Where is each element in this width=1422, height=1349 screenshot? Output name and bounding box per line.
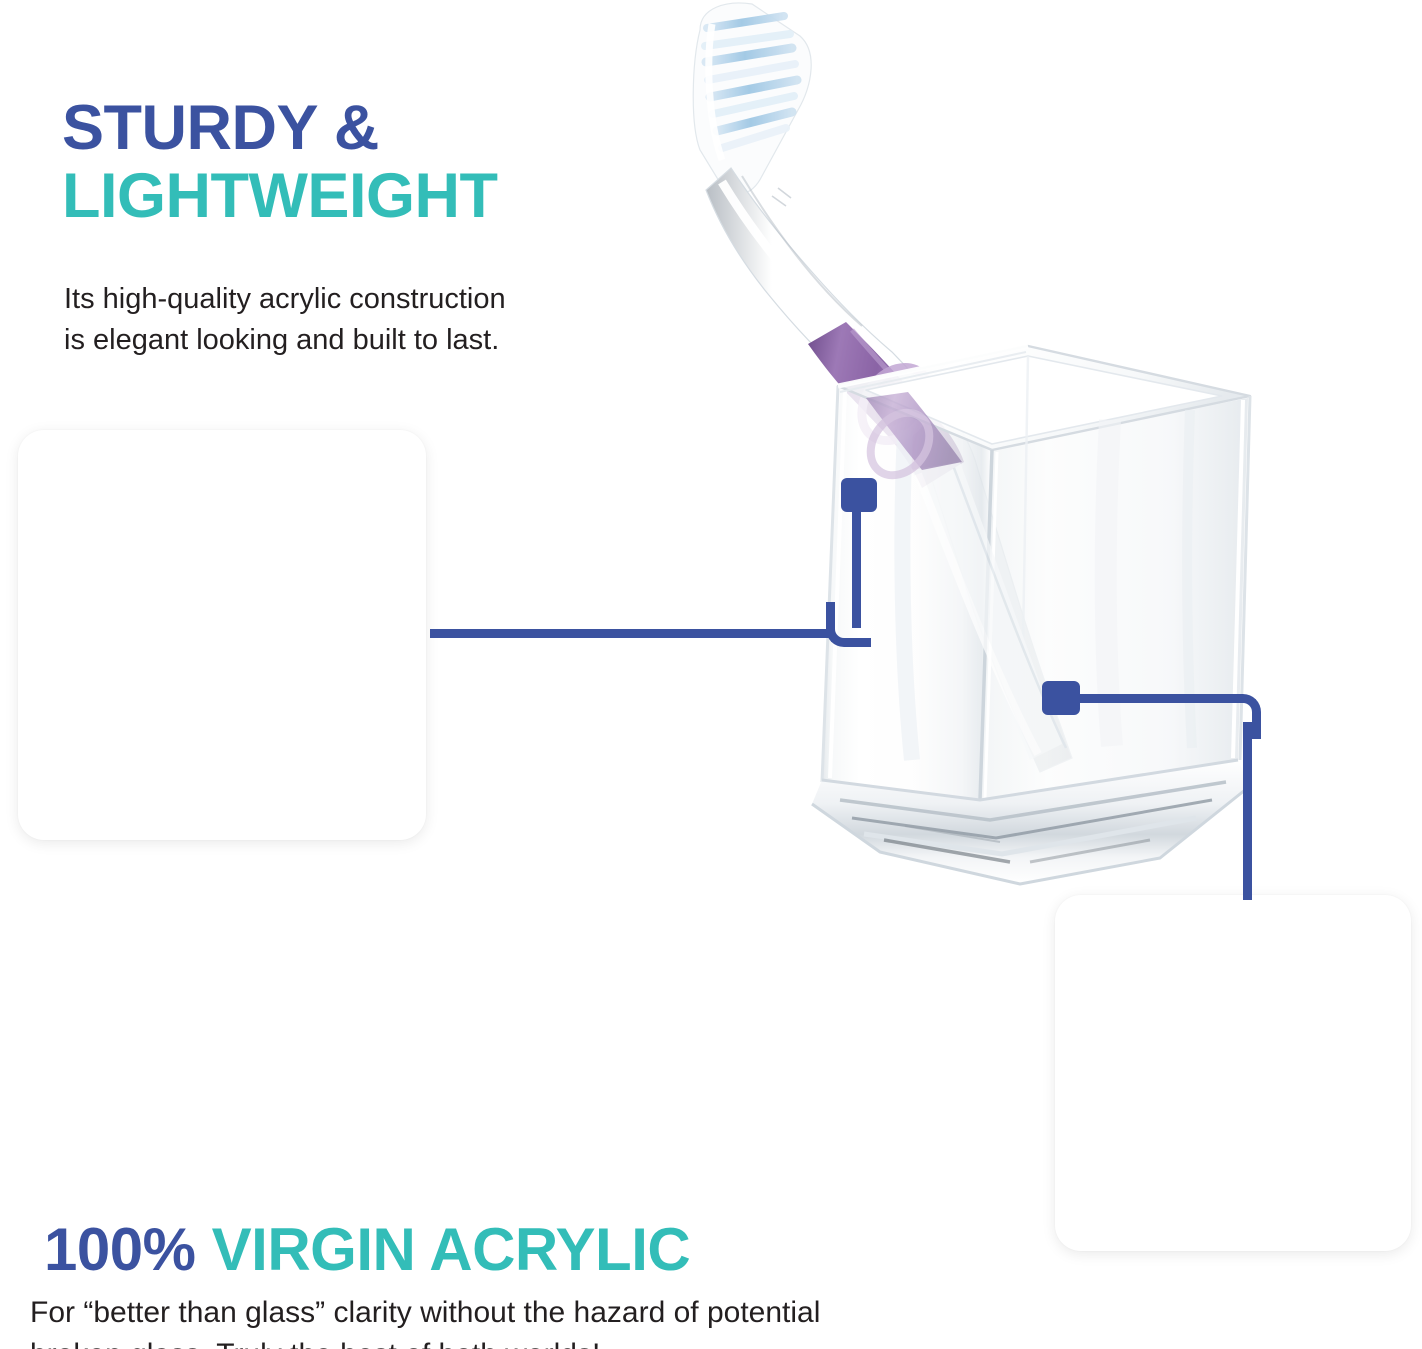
connector-base-vertical <box>1243 722 1252 900</box>
top-headline-line1: STURDY & <box>62 94 702 162</box>
toothbrush-grip-through-glass <box>859 392 962 487</box>
connector-rim-elbow <box>826 602 871 647</box>
toothbrush-handle <box>706 168 1072 772</box>
toothbrush-head <box>693 3 811 194</box>
bottom-headline: 100% VIRGIN ACRYLIC <box>44 1218 1044 1281</box>
top-body-line1: Its high-quality acrylic construction <box>64 279 674 320</box>
infographic-page: STURDY & LIGHTWEIGHT Its high-quality ac… <box>0 0 1422 1349</box>
bottom-body-line1: For “better than glass” clarity without … <box>30 1292 1060 1334</box>
bottom-headline-prefix: 100% <box>44 1216 195 1283</box>
top-body-line2: is elegant looking and built to last. <box>64 320 674 361</box>
top-body-text: Its high-quality acrylic construction is… <box>64 279 674 361</box>
acrylic-tumbler <box>812 346 1250 884</box>
callout-card-base-detail[interactable] <box>1055 895 1411 1251</box>
bottom-body-text: For “better than glass” clarity without … <box>30 1292 1060 1349</box>
connector-base-elbow <box>1216 694 1261 739</box>
top-headline-line2: LIGHTWEIGHT <box>62 162 702 230</box>
bottom-body-line2: broken glass. Truly the best of both wor… <box>30 1334 1060 1349</box>
bottom-headline-suffix: VIRGIN ACRYLIC <box>195 1216 690 1283</box>
connector-base-horizontal <box>1074 694 1224 703</box>
callout-card-rim-detail[interactable] <box>18 430 426 840</box>
top-headline: STURDY & LIGHTWEIGHT <box>62 94 702 230</box>
connector-rim-horizontal <box>430 629 830 638</box>
toothbrush-inside-tumbler <box>912 462 1066 760</box>
toothbrush-purple-grip <box>808 322 964 488</box>
